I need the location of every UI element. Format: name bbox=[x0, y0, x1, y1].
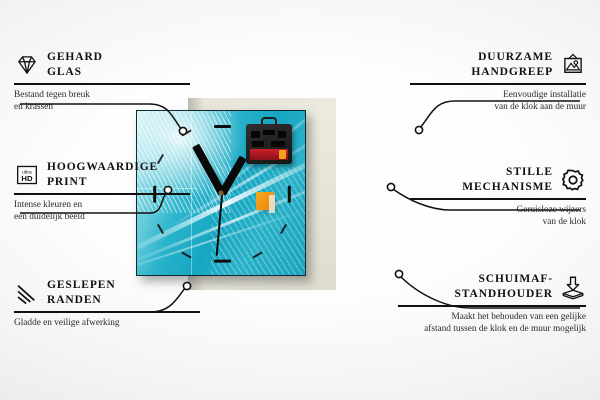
mechanism-slot bbox=[278, 131, 286, 138]
clock-tick bbox=[214, 260, 231, 263]
feature-hoogwaardige-print[interactable]: ultra HD HOOGWAARDIGEPRINT Intense kleur… bbox=[14, 160, 190, 224]
feature-schuimafstandhouder[interactable]: SCHUIMAF-STANDHOUDER Maakt het behouden … bbox=[398, 272, 586, 336]
clock-tick bbox=[214, 125, 231, 128]
feature-header: STILLEMECHANISME bbox=[410, 165, 586, 195]
feature-stille-mechanisme[interactable]: STILLEMECHANISME Geruisloze wijzers van … bbox=[410, 165, 586, 229]
gear-icon bbox=[560, 167, 586, 193]
foam-spacer-icon bbox=[560, 274, 586, 300]
mechanism-slot bbox=[252, 141, 264, 147]
mechanism-slot bbox=[271, 141, 285, 147]
feature-description: Maakt het behouden van een gelijke afsta… bbox=[398, 311, 586, 336]
feature-duurzame-handgreep[interactable]: DUURZAMEHANDGREEP Eenvoudige installatie… bbox=[410, 50, 586, 114]
feature-description: Bestand tegen breuk en krassen bbox=[14, 89, 190, 114]
feature-geslepen-randen[interactable]: GESLEPENRANDEN Gladde en veilige afwerki… bbox=[14, 278, 200, 329]
feature-description: Intense kleuren en een duidelijk beeld bbox=[14, 199, 190, 224]
mechanism-slot bbox=[263, 130, 275, 135]
divider bbox=[398, 305, 586, 307]
feature-title: STILLEMECHANISME bbox=[462, 165, 553, 195]
divider bbox=[14, 83, 190, 85]
feature-header: GESLEPENRANDEN bbox=[14, 278, 200, 308]
feature-description: Gladde en veilige afwerking bbox=[14, 317, 200, 329]
feature-gehard-glas[interactable]: GEHARDGLAS Bestand tegen breuk en krasse… bbox=[14, 50, 190, 114]
mechanism-slot bbox=[251, 131, 260, 138]
picture-frame-icon bbox=[560, 52, 586, 78]
feature-title: GEHARDGLAS bbox=[47, 50, 103, 80]
clock-tick bbox=[288, 185, 291, 202]
feature-title: SCHUIMAF-STANDHOUDER bbox=[454, 272, 553, 302]
divider bbox=[14, 193, 190, 195]
diamond-icon bbox=[14, 52, 40, 78]
feature-description: Geruisloze wijzers van de klok bbox=[410, 204, 586, 229]
hd-label: HD bbox=[21, 174, 33, 183]
feature-title: GESLEPENRANDEN bbox=[47, 278, 116, 308]
feature-header: ultra HD HOOGWAARDIGEPRINT bbox=[14, 160, 190, 190]
divider bbox=[410, 198, 586, 200]
infographic-stage: GEHARDGLAS Bestand tegen breuk en krasse… bbox=[0, 0, 600, 400]
feature-header: GEHARDGLAS bbox=[14, 50, 190, 80]
foam-spacer bbox=[256, 192, 274, 210]
battery bbox=[250, 149, 288, 160]
clock-mechanism bbox=[246, 124, 292, 164]
feature-title: DUURZAMEHANDGREEP bbox=[471, 50, 553, 80]
divider bbox=[410, 83, 586, 85]
clock-center-pin bbox=[219, 191, 224, 196]
glass-pane-line bbox=[191, 111, 192, 275]
beveled-edges-icon bbox=[14, 280, 40, 306]
feature-header: SCHUIMAF-STANDHOUDER bbox=[398, 272, 586, 302]
ultra-hd-icon: ultra HD bbox=[14, 162, 40, 188]
divider bbox=[14, 311, 200, 313]
feature-header: DUURZAMEHANDGREEP bbox=[410, 50, 586, 80]
feature-description: Eenvoudige installatie van de klok aan d… bbox=[410, 89, 586, 114]
feature-title: HOOGWAARDIGEPRINT bbox=[47, 160, 158, 190]
